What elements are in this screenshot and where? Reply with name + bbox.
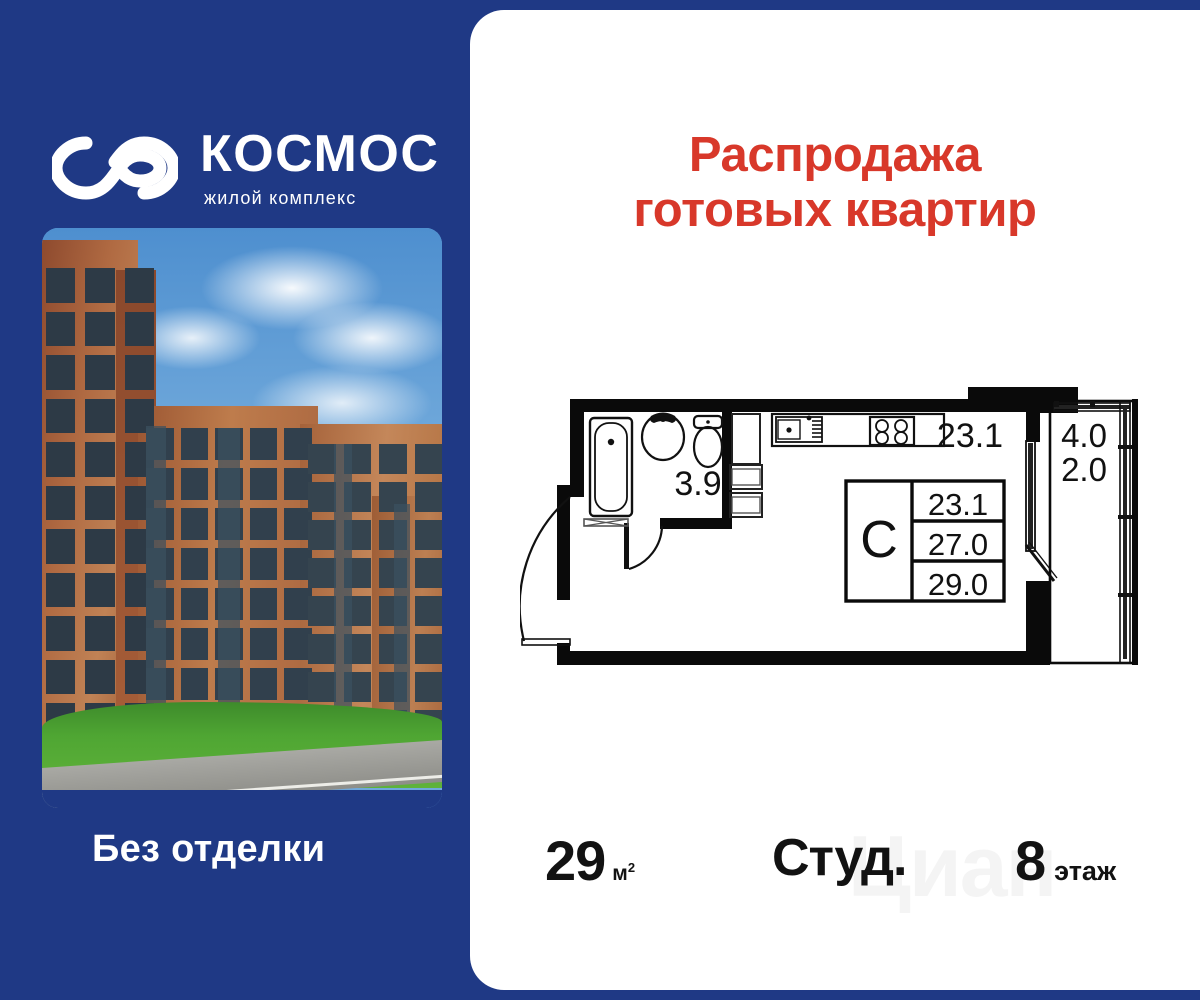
headline-line-1: Распродажа: [470, 128, 1200, 183]
spec-rooms: Студ.: [772, 828, 906, 888]
area-label-balcony-counted: 2.0: [1061, 451, 1107, 488]
spec-area-unit: м2: [612, 860, 635, 886]
wall-bottom-left-return: [557, 643, 570, 665]
legend-type-code: С: [860, 511, 898, 569]
wall-bottom: [570, 651, 1040, 665]
listing-card: КОСМОС жилой комплекс: [0, 0, 1200, 1000]
brand-logo[interactable]: КОСМОС жилой комплекс: [52, 120, 452, 216]
balcony-door-icon: [1026, 441, 1057, 581]
bathroom-door-icon: [629, 526, 662, 569]
toilet-icon: [694, 416, 722, 467]
glazed-balcony-strip: [218, 428, 240, 740]
window-grid-tower-left: [46, 268, 154, 738]
spec-area: 29 м2: [545, 828, 635, 893]
spec-floor: 8 этаж: [1015, 828, 1116, 893]
plan-legend-table: С 23.1 27.0 29.0: [846, 481, 1004, 602]
washbasin-icon: [642, 413, 684, 461]
logo-text-block: КОСМОС жилой комплекс: [200, 128, 439, 209]
glazed-balcony-strip: [146, 426, 166, 740]
hall-closet-icon: [730, 414, 762, 517]
area-label-balcony: 4.0: [1061, 417, 1107, 454]
headline-line-2: готовых квартир: [470, 183, 1200, 238]
glazed-balcony-strip: [334, 444, 352, 740]
area-label-main-room: 23.1: [937, 417, 1003, 455]
residential-complex-photo: [42, 228, 442, 808]
legend-total-area: 29.0: [928, 567, 988, 602]
bathtub-icon: [590, 418, 632, 516]
window-grid-block-right: [308, 444, 442, 740]
wall-top-left: [570, 399, 1040, 412]
stove-icon: [870, 417, 914, 445]
spec-floor-value: 8: [1015, 828, 1045, 893]
spec-area-value: 29: [545, 828, 605, 893]
brand-panel: КОСМОС жилой комплекс: [0, 0, 472, 1000]
spec-floor-unit: этаж: [1054, 856, 1116, 887]
area-label-bathroom: 3.9: [674, 465, 721, 503]
kitchen-sink-icon: [776, 416, 822, 442]
wall-balcony-partition: [1026, 581, 1050, 665]
finish-type-label: Без отделки: [92, 828, 325, 871]
wall-right-upper-stub: [1026, 412, 1040, 442]
logo-wordmark: КОСМОС: [200, 128, 439, 180]
floor-plan[interactable]: 3.9: [520, 385, 1150, 685]
legend-area-without-balcony: 27.0: [928, 527, 988, 562]
glazed-balcony-strip: [394, 504, 410, 740]
balcony: 4.0 2.0: [1050, 399, 1138, 665]
page-title: Распродажа готовых квартир: [470, 128, 1200, 238]
offer-panel: Распродажа готовых квартир: [470, 10, 1200, 990]
photo-bottom-edge: [42, 790, 442, 808]
legend-living-area: 23.1: [928, 487, 988, 522]
wall-left-upper: [570, 399, 584, 485]
logo-subtitle: жилой комплекс: [204, 188, 356, 209]
floor-plan-drawing: 3.9: [520, 385, 1150, 685]
wall-bathroom-bottom: [660, 518, 732, 529]
apartment-specs: Циан 29 м2 Студ. 8 этаж: [470, 810, 1200, 920]
spec-rooms-value: Студ.: [772, 828, 906, 888]
infinity-icon: [52, 133, 178, 203]
